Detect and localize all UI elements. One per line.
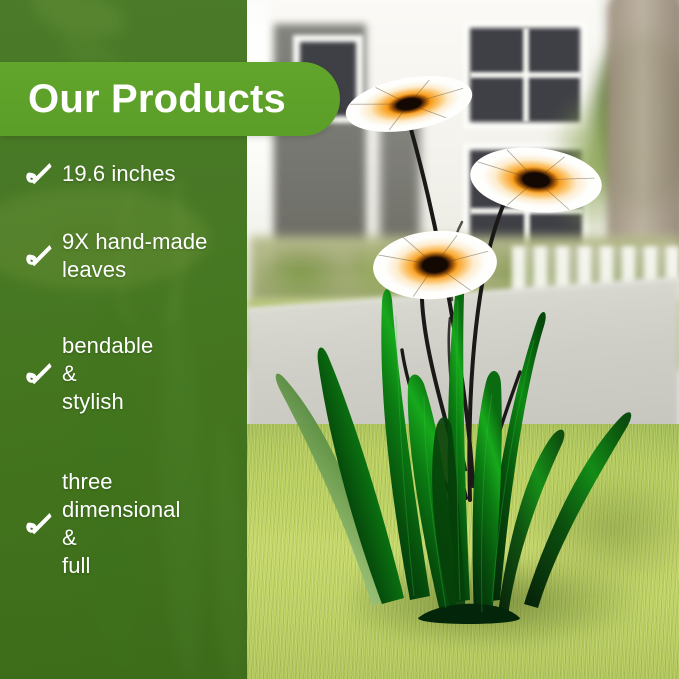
feature-label: 9X hand-made leaves	[62, 228, 208, 284]
feature-label: bendable & stylish	[62, 332, 153, 416]
product-infographic: 19.6 inches 9X hand-made leaves bendable…	[0, 0, 679, 679]
feature-label: 19.6 inches	[62, 160, 176, 188]
feature-item-size: 19.6 inches	[0, 160, 247, 188]
check-icon	[24, 510, 54, 538]
check-icon	[24, 360, 54, 388]
page-title: Our Products	[28, 62, 286, 136]
check-icon	[24, 242, 54, 270]
feature-item-dimensional: three dimensional & full	[0, 468, 247, 580]
feature-list: 19.6 inches 9X hand-made leaves bendable…	[0, 160, 247, 614]
feature-item-leaves: 9X hand-made leaves	[0, 228, 247, 284]
feature-item-bendable: bendable & stylish	[0, 332, 247, 416]
feature-label: three dimensional & full	[62, 468, 181, 580]
header-banner: Our Products	[0, 62, 340, 136]
check-icon	[24, 160, 54, 188]
